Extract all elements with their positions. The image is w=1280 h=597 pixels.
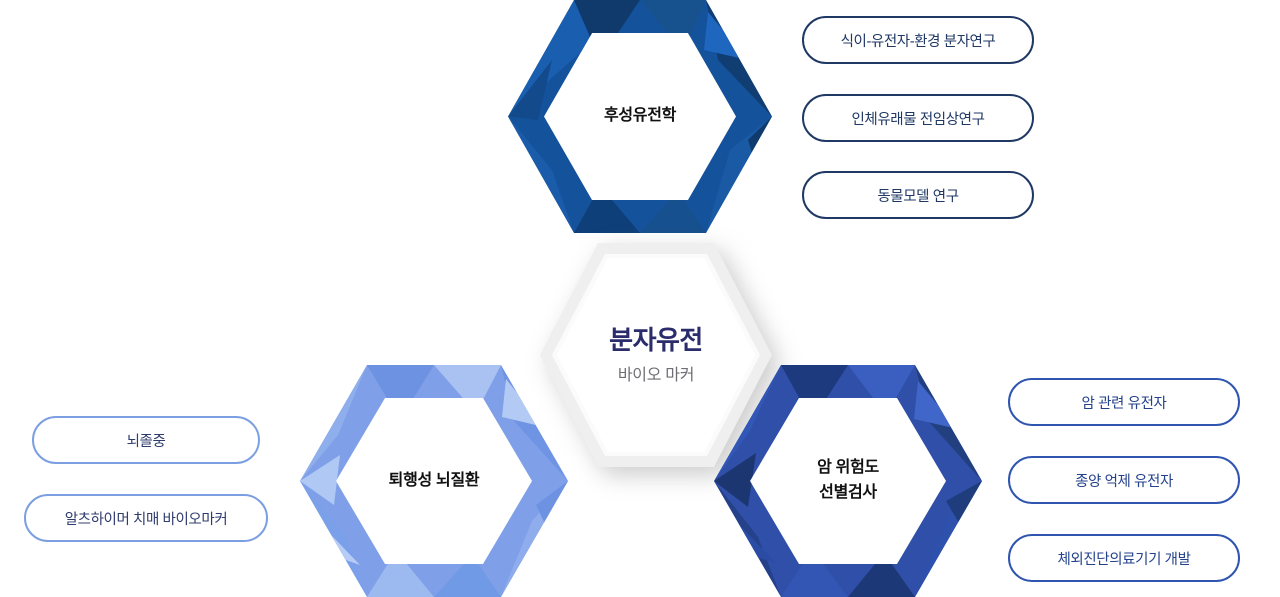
hexagon-cancer-risk-shape bbox=[714, 365, 982, 597]
pill-epigenetics-1[interactable]: 식이-유전자-환경 분자연구 bbox=[802, 16, 1034, 64]
pill-cancer-risk-3-label: 체외진단의료기기 개발 bbox=[1057, 548, 1190, 569]
pill-epigenetics-3-label: 동물모델 연구 bbox=[877, 185, 958, 206]
pill-neurodegenerative-2-label: 알츠하이머 치매 바이오마커 bbox=[65, 508, 228, 529]
hexagon-epigenetics[interactable]: 후성유전학 bbox=[508, 0, 772, 233]
pill-cancer-risk-1-label: 암 관련 유전자 bbox=[1082, 392, 1167, 413]
hexagon-neurodegenerative-shape bbox=[300, 365, 568, 597]
pill-epigenetics-2[interactable]: 인체유래물 전임상연구 bbox=[802, 94, 1034, 142]
pill-epigenetics-3[interactable]: 동물모델 연구 bbox=[802, 171, 1034, 219]
hexagon-neurodegenerative[interactable]: 퇴행성 뇌질환 bbox=[300, 365, 568, 597]
pill-cancer-risk-3[interactable]: 체외진단의료기기 개발 bbox=[1008, 534, 1240, 582]
hexagon-epigenetics-shape bbox=[508, 0, 772, 233]
pill-cancer-risk-2-label: 종양 억제 유전자 bbox=[1075, 470, 1173, 491]
pill-epigenetics-2-label: 인체유래물 전임상연구 bbox=[851, 108, 984, 129]
pill-neurodegenerative-1-label: 뇌졸중 bbox=[127, 430, 166, 451]
pill-cancer-risk-2[interactable]: 종양 억제 유전자 bbox=[1008, 456, 1240, 504]
pill-epigenetics-1-label: 식이-유전자-환경 분자연구 bbox=[841, 30, 996, 51]
diagram-canvas: 후성유전학 분자유전 바이오 마커 bbox=[0, 0, 1280, 597]
hexagon-cancer-risk[interactable]: 암 위험도 선별검사 bbox=[714, 365, 982, 597]
pill-cancer-risk-1[interactable]: 암 관련 유전자 bbox=[1008, 378, 1240, 426]
pill-neurodegenerative-2[interactable]: 알츠하이머 치매 바이오마커 bbox=[24, 494, 268, 542]
pill-neurodegenerative-1[interactable]: 뇌졸중 bbox=[32, 416, 260, 464]
